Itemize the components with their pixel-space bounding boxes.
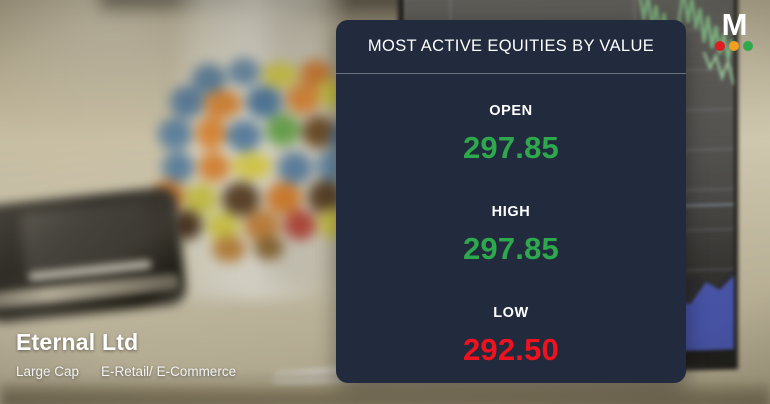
desk-front-edge <box>0 384 770 404</box>
stat-open: OPEN 297.85 <box>336 104 686 163</box>
stat-low-value: 292.50 <box>336 334 686 365</box>
stat-high-label: HIGH <box>336 205 686 220</box>
stat-open-value: 297.85 <box>336 132 686 163</box>
stats-card: MOST ACTIVE EQUITIES BY VALUE OPEN 297.8… <box>336 20 686 383</box>
mint-logo-letter: M <box>712 10 756 40</box>
logo-dot-green <box>743 41 753 51</box>
screenshot-stage: MOST ACTIVE EQUITIES BY VALUE OPEN 297.8… <box>0 0 770 404</box>
stat-low: LOW 292.50 <box>336 306 686 365</box>
company-meta: Large Cap E-Retail/ E-Commerce <box>16 365 236 379</box>
company-name: Eternal Ltd <box>16 330 236 355</box>
market-cap-label: Large Cap <box>16 365 79 379</box>
stat-open-label: OPEN <box>336 104 686 119</box>
stat-high: HIGH 297.85 <box>336 205 686 264</box>
stat-high-value: 297.85 <box>336 233 686 264</box>
company-caption: Eternal Ltd Large Cap E-Retail/ E-Commer… <box>16 330 236 378</box>
card-title: MOST ACTIVE EQUITIES BY VALUE <box>336 20 686 73</box>
mint-logo-dots <box>712 41 756 51</box>
card-divider <box>336 73 686 74</box>
mint-logo: M <box>712 10 756 54</box>
logo-dot-amber <box>729 41 739 51</box>
sector-label: E-Retail/ E-Commerce <box>101 365 236 379</box>
logo-dot-red <box>715 41 725 51</box>
candy-cluster <box>150 60 360 275</box>
stat-low-label: LOW <box>336 306 686 321</box>
